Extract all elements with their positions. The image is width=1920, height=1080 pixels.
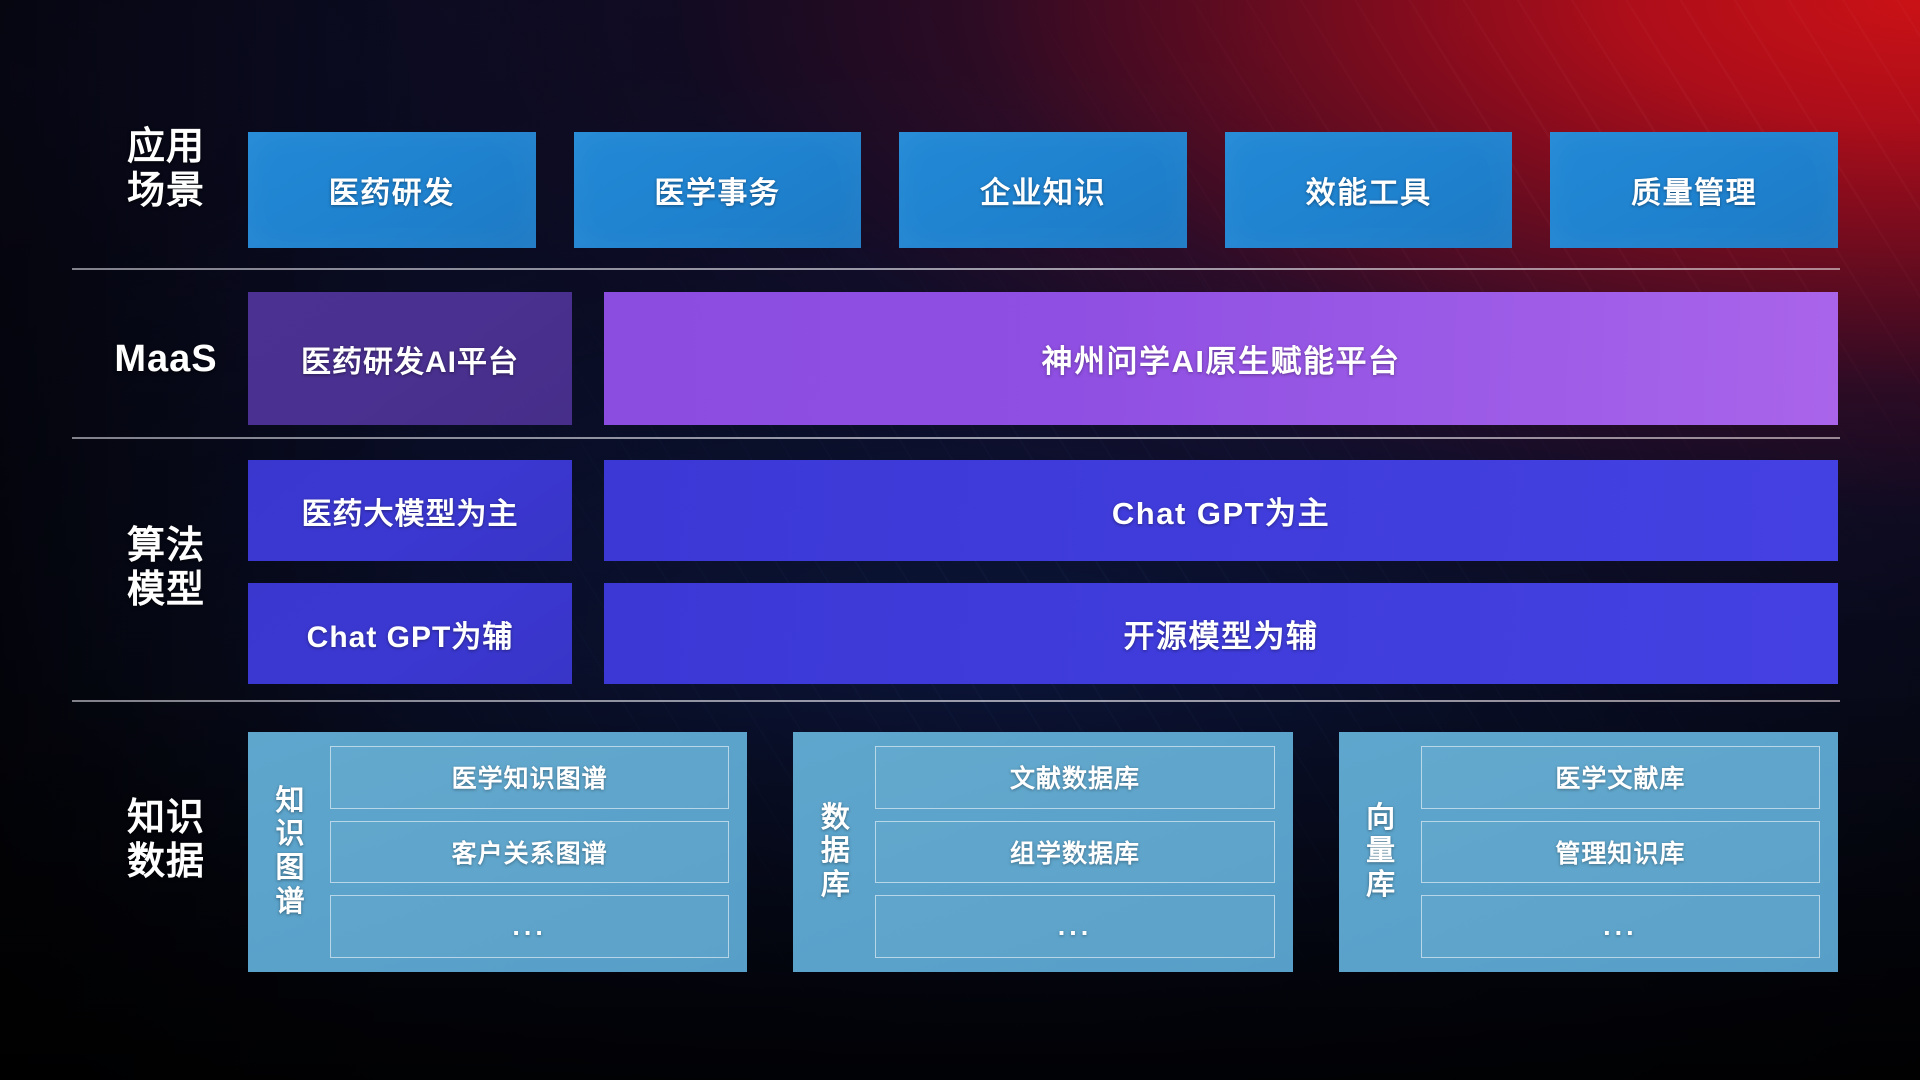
knowledge-group-title-database: 数据库 [809, 802, 861, 903]
app-box-enterprise-knowledge[interactable]: 企业知识 [899, 132, 1187, 248]
row-label-maas: MaaS [86, 337, 246, 381]
knowledge-item-omics-database[interactable]: 组学数据库 [875, 821, 1274, 884]
divider-after-application-scenarios [72, 268, 1840, 270]
knowledge-item-list-vector-store: 医学文献库 管理知识库 ... [1421, 746, 1820, 958]
knowledge-item-management-knowledge-store[interactable]: 管理知识库 [1421, 821, 1820, 884]
app-box-quality-management[interactable]: 质量管理 [1550, 132, 1838, 248]
algo-box-chatgpt-secondary[interactable]: Chat GPT为辅 [248, 583, 572, 684]
knowledge-item-list-database: 文献数据库 组学数据库 ... [875, 746, 1274, 958]
knowledge-group-database: 数据库 文献数据库 组学数据库 ... [793, 732, 1292, 972]
knowledge-item-medical-literature-store[interactable]: 医学文献库 [1421, 746, 1820, 809]
divider-after-algorithm-models [72, 700, 1840, 702]
maas-box-shenzhou-wenxue-platform[interactable]: 神州问学AI原生赋能平台 [604, 292, 1838, 425]
knowledge-data-row: 知识图谱 医学知识图谱 客户关系图谱 ... 数据库 文献数据库 组学数据库 .… [248, 732, 1838, 972]
maas-box-medicine-ai-platform[interactable]: 医药研发AI平台 [248, 292, 572, 425]
row-label-application-scenarios: 应用 场景 [86, 125, 246, 213]
knowledge-item-more-vector-store[interactable]: ... [1421, 895, 1820, 958]
algorithm-models-line-primary: 医药大模型为主 Chat GPT为主 [248, 460, 1838, 561]
algo-box-opensource-secondary[interactable]: 开源模型为辅 [604, 583, 1838, 684]
knowledge-item-medical-knowledge-graph[interactable]: 医学知识图谱 [330, 746, 729, 809]
knowledge-group-title-knowledge-graph: 知识图谱 [264, 785, 316, 920]
row-label-algorithm-models: 算法 模型 [86, 524, 246, 612]
algorithm-models-row: 医药大模型为主 Chat GPT为主 Chat GPT为辅 开源模型为辅 [248, 460, 1838, 684]
maas-row: 医药研发AI平台 神州问学AI原生赋能平台 [248, 292, 1838, 425]
app-box-medical-affairs[interactable]: 医学事务 [574, 132, 862, 248]
architecture-diagram-slide: 应用 场景 医药研发 医学事务 企业知识 效能工具 质量管理 MaaS 医药研发… [0, 0, 1920, 1080]
knowledge-item-customer-relation-graph[interactable]: 客户关系图谱 [330, 821, 729, 884]
diagram-content: 应用 场景 医药研发 医学事务 企业知识 效能工具 质量管理 MaaS 医药研发… [0, 0, 1920, 1080]
divider-after-maas [72, 437, 1840, 439]
knowledge-item-more-knowledge-graph[interactable]: ... [330, 895, 729, 958]
application-scenarios-row: 医药研发 医学事务 企业知识 效能工具 质量管理 [248, 132, 1838, 248]
app-box-efficiency-tools[interactable]: 效能工具 [1225, 132, 1513, 248]
knowledge-item-literature-database[interactable]: 文献数据库 [875, 746, 1274, 809]
algo-box-medicine-llm-primary[interactable]: 医药大模型为主 [248, 460, 572, 561]
knowledge-group-title-vector-store: 向量库 [1355, 802, 1407, 903]
app-box-medicine-rnd[interactable]: 医药研发 [248, 132, 536, 248]
knowledge-item-more-database[interactable]: ... [875, 895, 1274, 958]
algo-box-chatgpt-primary[interactable]: Chat GPT为主 [604, 460, 1838, 561]
row-label-knowledge-data: 知识 数据 [86, 796, 246, 884]
algorithm-models-line-secondary: Chat GPT为辅 开源模型为辅 [248, 583, 1838, 684]
knowledge-group-knowledge-graph: 知识图谱 医学知识图谱 客户关系图谱 ... [248, 732, 747, 972]
knowledge-group-vector-store: 向量库 医学文献库 管理知识库 ... [1339, 732, 1838, 972]
knowledge-item-list-knowledge-graph: 医学知识图谱 客户关系图谱 ... [330, 746, 729, 958]
